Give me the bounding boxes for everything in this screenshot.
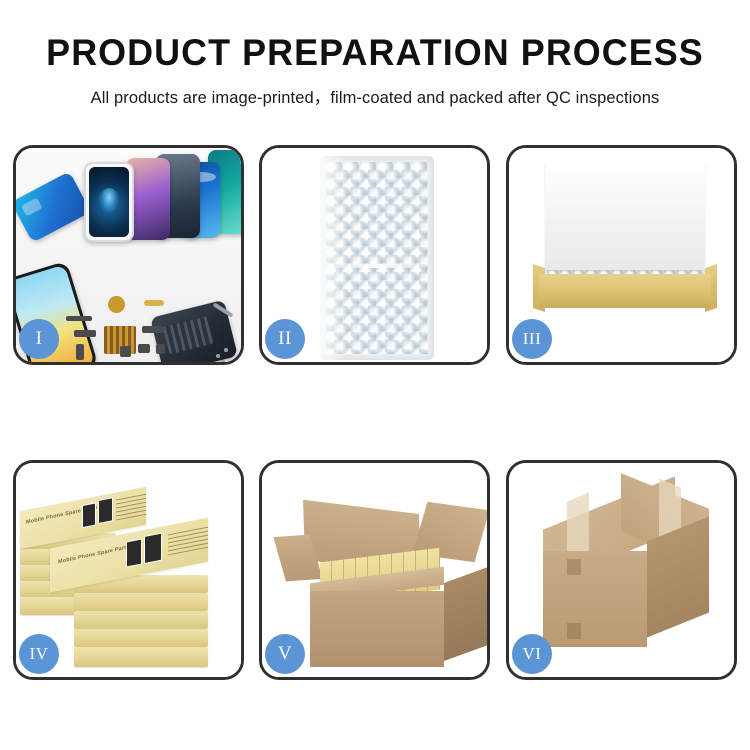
- part-small-flex: [76, 344, 84, 360]
- part-taptic-coil: [108, 296, 125, 313]
- header: PRODUCT PREPARATION PROCESS All products…: [0, 0, 750, 108]
- box-label-second: Mobile Phone Spare Parts: [58, 544, 129, 565]
- process-step-panel-5: V: [259, 460, 490, 680]
- process-step-grid: I II: [13, 145, 737, 681]
- stack-box-r3: [74, 611, 208, 629]
- stack-box-r2: [74, 593, 208, 611]
- part-screw-c: [221, 360, 225, 362]
- process-step-panel-2: II: [259, 145, 490, 365]
- part-screw-a: [216, 354, 220, 358]
- sealed-carton-front-face: [543, 551, 647, 647]
- part-flex-cable-b: [142, 326, 164, 333]
- part-earpiece-mesh: [66, 316, 92, 321]
- product-preparation-infographic: PRODUCT PREPARATION PROCESS All products…: [0, 0, 750, 750]
- page-title: PRODUCT PREPARATION PROCESS: [11, 34, 739, 71]
- step-badge-2: II: [265, 319, 305, 359]
- part-camera-module: [138, 344, 150, 353]
- part-flex-cable-a: [144, 300, 164, 306]
- carton-seam-lower: [567, 623, 581, 639]
- phone-white-frame: [84, 162, 134, 242]
- part-vibration-motor: [156, 344, 165, 354]
- stack-box-r5: [74, 647, 208, 667]
- foam-lid-fold: [545, 162, 705, 208]
- process-step-panel-1: I: [13, 145, 244, 365]
- process-step-panel-6: VI: [506, 460, 737, 680]
- stack-box-r4: [74, 629, 208, 647]
- bubble-texture-overlay: [334, 170, 428, 354]
- process-step-panel-4: Mobile Phone Spare Parts Mobile Phone Sp…: [13, 460, 244, 680]
- step-badge-1: I: [19, 319, 59, 359]
- box-front-wall: [539, 274, 711, 308]
- process-step-panel-3: III: [506, 145, 737, 365]
- part-screw-b: [224, 348, 228, 352]
- carton-right-face: [444, 567, 487, 661]
- part-connector-strip: [74, 330, 96, 337]
- part-speaker: [120, 346, 131, 357]
- box-print-screen-b2: [144, 533, 162, 564]
- box-print-screen-a1: [82, 502, 96, 528]
- box-print-screen-b1: [126, 538, 142, 567]
- step-badge-3: III: [512, 319, 552, 359]
- phone-back-glass-teal: [16, 171, 91, 243]
- bubble-wrapped-product: [320, 156, 434, 360]
- carton-front-face: [310, 591, 444, 667]
- step-badge-6: VI: [512, 634, 552, 674]
- page-subtitle: All products are image-printed，film-coat…: [0, 84, 750, 108]
- step-badge-4: IV: [19, 634, 59, 674]
- box-print-spec-list-b: [168, 525, 208, 555]
- box-print-screen-a2: [98, 497, 113, 524]
- step-badge-5: V: [265, 634, 305, 674]
- carton-seam-upper: [567, 559, 581, 575]
- wrap-sheen: [320, 156, 346, 360]
- box-print-spec-list-a: [116, 490, 146, 520]
